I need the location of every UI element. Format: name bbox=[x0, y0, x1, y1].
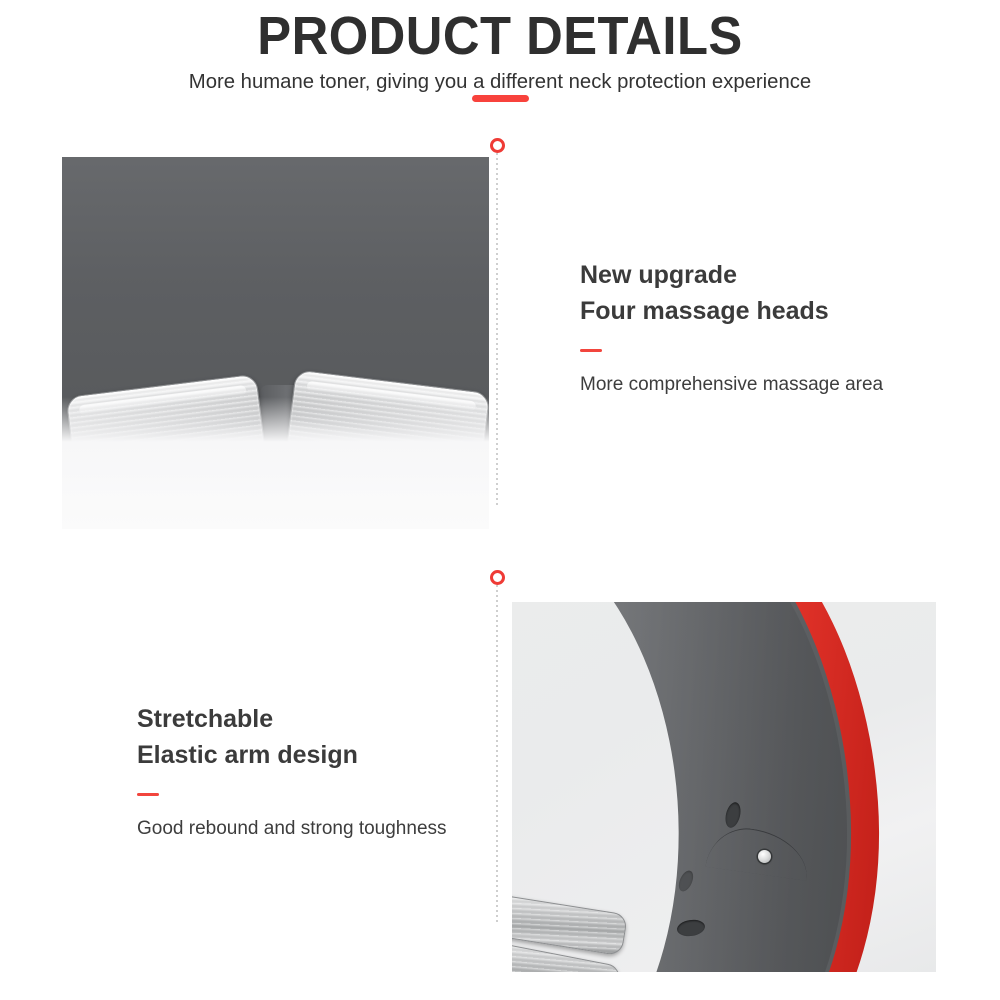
page-subtitle: More humane toner, giving you a differen… bbox=[5, 70, 995, 94]
feature-heading-line1: New upgrade bbox=[580, 258, 883, 294]
title-accent-bar bbox=[472, 95, 529, 102]
arm-hinge-screw bbox=[758, 850, 771, 863]
feature-heading-line2: Elastic arm design bbox=[137, 738, 447, 774]
feature-heading-line2: Four massage heads bbox=[580, 294, 883, 330]
feature-block-elastic-arm-design: Stretchable Elastic arm design Good rebo… bbox=[137, 702, 447, 840]
product-image-four-massage-heads bbox=[62, 157, 489, 529]
connector-dot-top bbox=[490, 138, 505, 153]
page-title: PRODUCT DETAILS bbox=[30, 8, 970, 65]
feature-block-four-massage-heads: New upgrade Four massage heads More comp… bbox=[580, 258, 883, 396]
feature-divider-rule bbox=[137, 793, 159, 796]
product-image-elastic-arm bbox=[512, 602, 936, 972]
connector-dot-bottom bbox=[490, 570, 505, 585]
feature-heading-line1: Stretchable bbox=[137, 702, 447, 738]
feature-divider-rule bbox=[580, 349, 602, 352]
photo-foreground-fade bbox=[62, 397, 489, 529]
feature-description: More comprehensive massage area bbox=[580, 374, 883, 396]
connector-line-bottom bbox=[496, 585, 498, 923]
connector-line-top bbox=[496, 153, 498, 505]
feature-description: Good rebound and strong toughness bbox=[137, 818, 447, 840]
product-details-page: PRODUCT DETAILS More humane toner, givin… bbox=[0, 0, 1000, 1000]
